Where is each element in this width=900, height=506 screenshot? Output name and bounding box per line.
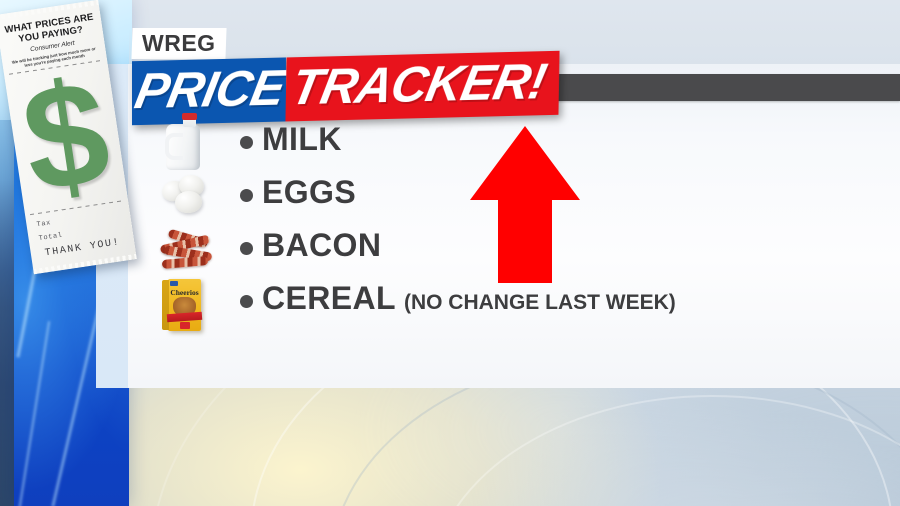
title-red-block: TRACKER!	[285, 51, 559, 122]
dollar-sign-icon: $	[3, 55, 128, 219]
milk-jug-icon	[162, 122, 218, 178]
list-item-label: MILK	[262, 122, 342, 156]
list-item-note: (NO CHANGE LAST WEEK)	[404, 291, 676, 314]
list-item-label: CEREAL(NO CHANGE LAST WEEK)	[262, 281, 676, 320]
bullet-icon	[240, 242, 253, 255]
eggs-icon	[162, 175, 218, 231]
bullet-icon	[240, 136, 253, 149]
title-blue-block: PRICE	[132, 57, 286, 125]
bacon-icon	[162, 228, 218, 284]
station-badge: WREG	[131, 28, 226, 59]
station-label: WREG	[142, 30, 216, 56]
broadcast-graphic: WHAT PRICES ARE YOU PAYING? Consumer Ale…	[0, 0, 900, 506]
up-arrow-icon	[470, 126, 580, 286]
cereal-box-icon: Cheerios	[162, 281, 218, 337]
title-word-price: PRICE	[131, 61, 289, 117]
list-item-label: EGGS	[262, 175, 356, 209]
bullet-icon	[240, 189, 253, 202]
title-word-tracker: TRACKER!	[287, 55, 550, 113]
bullet-icon	[240, 295, 253, 308]
receipt-tax-label: Tax	[36, 219, 51, 229]
cereal-brand-label: Cheerios	[168, 288, 201, 297]
list-item-label: BACON	[262, 228, 381, 262]
receipt-total-label: Total	[38, 232, 63, 243]
